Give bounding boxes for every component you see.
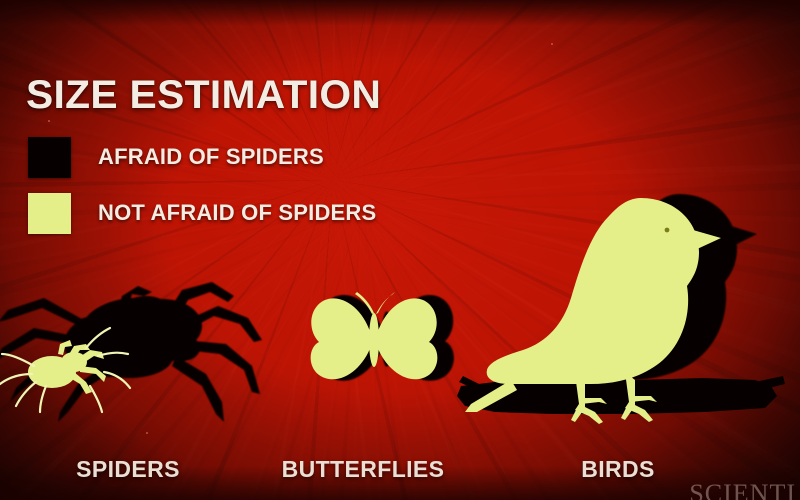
background-speck [551, 43, 553, 45]
category-label-butterflies: BUTTERFLIES [282, 456, 445, 483]
background-top-shade [0, 0, 800, 26]
slide-root: SIZE ESTIMATION AFRAID OF SPIDERS NOT AF… [0, 0, 800, 500]
watermark: SCIENTI [689, 479, 796, 500]
legend-item-label: AFRAID OF SPIDERS [98, 144, 324, 170]
page-title: SIZE ESTIMATION [26, 74, 381, 116]
background-speck [48, 120, 50, 122]
legend-item-afraid: AFRAID OF SPIDERS [28, 135, 376, 179]
spiders-pictogram [0, 262, 276, 422]
birds-pictogram [455, 168, 785, 428]
background-speck [146, 432, 148, 434]
yellow-green-swatch [28, 193, 71, 234]
spider-black-silhouette [0, 282, 262, 422]
category-label-spiders: SPIDERS [76, 456, 180, 483]
butterflies-figure-group [295, 288, 465, 398]
black-swatch [28, 137, 71, 178]
legend-item-label: NOT AFRAID OF SPIDERS [98, 200, 376, 226]
spiders-figure-group [0, 262, 276, 422]
birds-figure-group [455, 168, 785, 428]
butterfly-green-silhouette [311, 292, 438, 379]
legend: AFRAID OF SPIDERS NOT AFRAID OF SPIDERS [28, 135, 376, 247]
category-label-birds: BIRDS [581, 456, 655, 483]
legend-item-not-afraid: NOT AFRAID OF SPIDERS [28, 191, 376, 235]
butterflies-pictogram [295, 288, 465, 398]
bird-eye [665, 228, 670, 233]
